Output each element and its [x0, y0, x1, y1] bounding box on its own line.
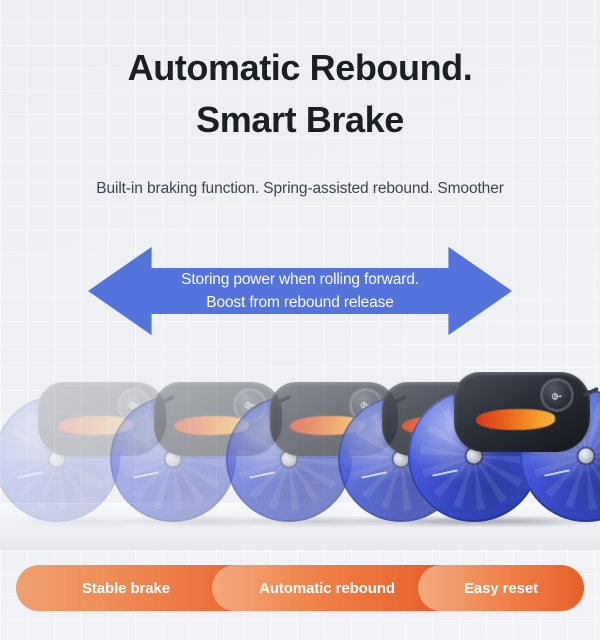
feature-bar: Stable brake Automatic rebound Easy rese…: [16, 565, 584, 611]
feature-segment-automatic-rebound[interactable]: Automatic rebound: [212, 565, 442, 611]
page-subtitle: Built-in braking function. Spring-assist…: [0, 178, 600, 200]
wheel-glint: [432, 469, 458, 476]
title-line-1: Automatic Rebound.: [0, 42, 600, 94]
wheel-glint: [17, 471, 43, 478]
roller-body: ⌱: [454, 372, 590, 452]
promo-page: Automatic Rebound. Smart Brake Built-in …: [0, 0, 600, 640]
roller-main: ⌱: [408, 372, 600, 522]
feature-segment-easy-reset[interactable]: Easy reset: [418, 565, 584, 611]
wheel-glint: [361, 471, 387, 478]
feature-label: Easy reset: [464, 580, 538, 597]
wheel-glint: [544, 469, 570, 476]
wheel-glint: [249, 471, 275, 478]
feature-label: Stable brake: [82, 580, 170, 597]
flame-accent: [476, 409, 555, 430]
product-motion-scene: ⌱ ⌱ ⌱: [0, 372, 600, 550]
wheel-hub: [579, 449, 594, 464]
rebound-arrow-banner: Storing power when rolling forward. Boos…: [88, 243, 512, 339]
title-line-2: Smart Brake: [0, 94, 600, 146]
wheel-glint: [133, 471, 159, 478]
feature-label: Automatic rebound: [259, 580, 395, 597]
brake-knob-icon: ⌱: [540, 378, 574, 412]
page-title: Automatic Rebound. Smart Brake: [0, 42, 600, 146]
double-arrow-icon: [88, 243, 512, 339]
feature-segment-stable-brake[interactable]: Stable brake: [16, 565, 236, 611]
